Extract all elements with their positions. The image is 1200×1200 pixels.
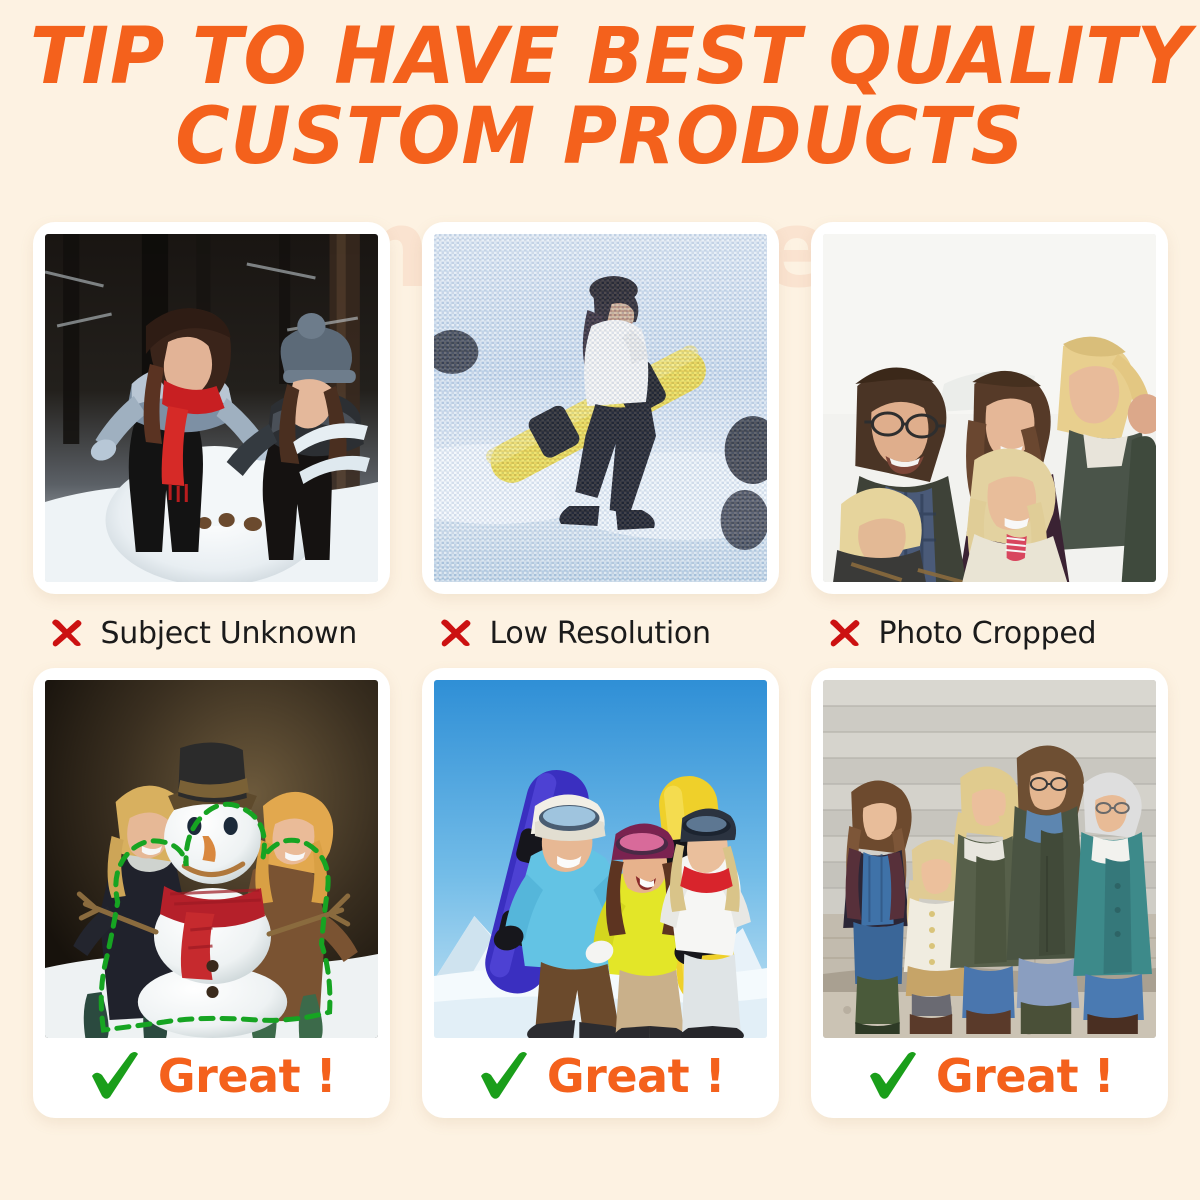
row-good-examples: Great ! <box>0 668 1200 1118</box>
photo-card: Great ! <box>33 668 390 1118</box>
photo-card: Great ! <box>811 668 1168 1118</box>
page-title-line-1: TIP TO HAVE BEST QUALITY <box>30 18 1170 98</box>
photo-card <box>422 222 779 594</box>
good-label-great-2: Great ! <box>434 1038 767 1114</box>
good-label-great-3: Great ! <box>823 1038 1156 1114</box>
bad-label-photo-cropped: Photo Cropped <box>811 594 1168 656</box>
photo-pixelated-snowboarder <box>434 234 767 582</box>
examples-grid: Subject Unknown <box>0 222 1200 1118</box>
bad-label-text: Subject Unknown <box>101 616 357 651</box>
photo-family-of-five-wooden-wall <box>823 680 1156 1038</box>
photo-card <box>811 222 1168 594</box>
good-label-text: Great ! <box>158 1049 336 1103</box>
green-check-icon <box>86 1048 142 1104</box>
photo-card: Great ! <box>422 668 779 1118</box>
example-cell-great-snowman: Great ! <box>33 668 390 1118</box>
green-check-icon <box>864 1048 920 1104</box>
photo-snowman-with-two-women-outlined <box>45 680 378 1038</box>
row-bad-examples: Subject Unknown <box>0 222 1200 656</box>
red-x-icon <box>47 613 87 653</box>
photo-two-women-building-snowman-dark-forest <box>45 234 378 582</box>
page-title-line-2: CUSTOM PRODUCTS <box>30 98 1170 178</box>
bad-label-text: Photo Cropped <box>879 616 1097 651</box>
bad-label-subject-unknown: Subject Unknown <box>33 594 390 656</box>
good-label-great-1: Great ! <box>45 1038 378 1114</box>
bad-label-text: Low Resolution <box>490 616 711 651</box>
good-label-text: Great ! <box>547 1049 725 1103</box>
bad-label-low-resolution: Low Resolution <box>422 594 779 656</box>
example-cell-low-resolution: Low Resolution <box>422 222 779 656</box>
example-cell-great-family: Great ! <box>811 668 1168 1118</box>
red-x-icon <box>436 613 476 653</box>
red-x-icon <box>825 613 865 653</box>
example-cell-subject-unknown: Subject Unknown <box>33 222 390 656</box>
photo-three-snowboarders-blue-sky <box>434 680 767 1038</box>
page-title: TIP TO HAVE BEST QUALITY CUSTOM PRODUCTS <box>0 18 1200 177</box>
example-cell-photo-cropped: Photo Cropped <box>811 222 1168 656</box>
photo-family-cropped-at-edge <box>823 234 1156 582</box>
photo-card <box>33 222 390 594</box>
green-check-icon <box>475 1048 531 1104</box>
good-label-text: Great ! <box>936 1049 1114 1103</box>
example-cell-great-snowboarders: Great ! <box>422 668 779 1118</box>
